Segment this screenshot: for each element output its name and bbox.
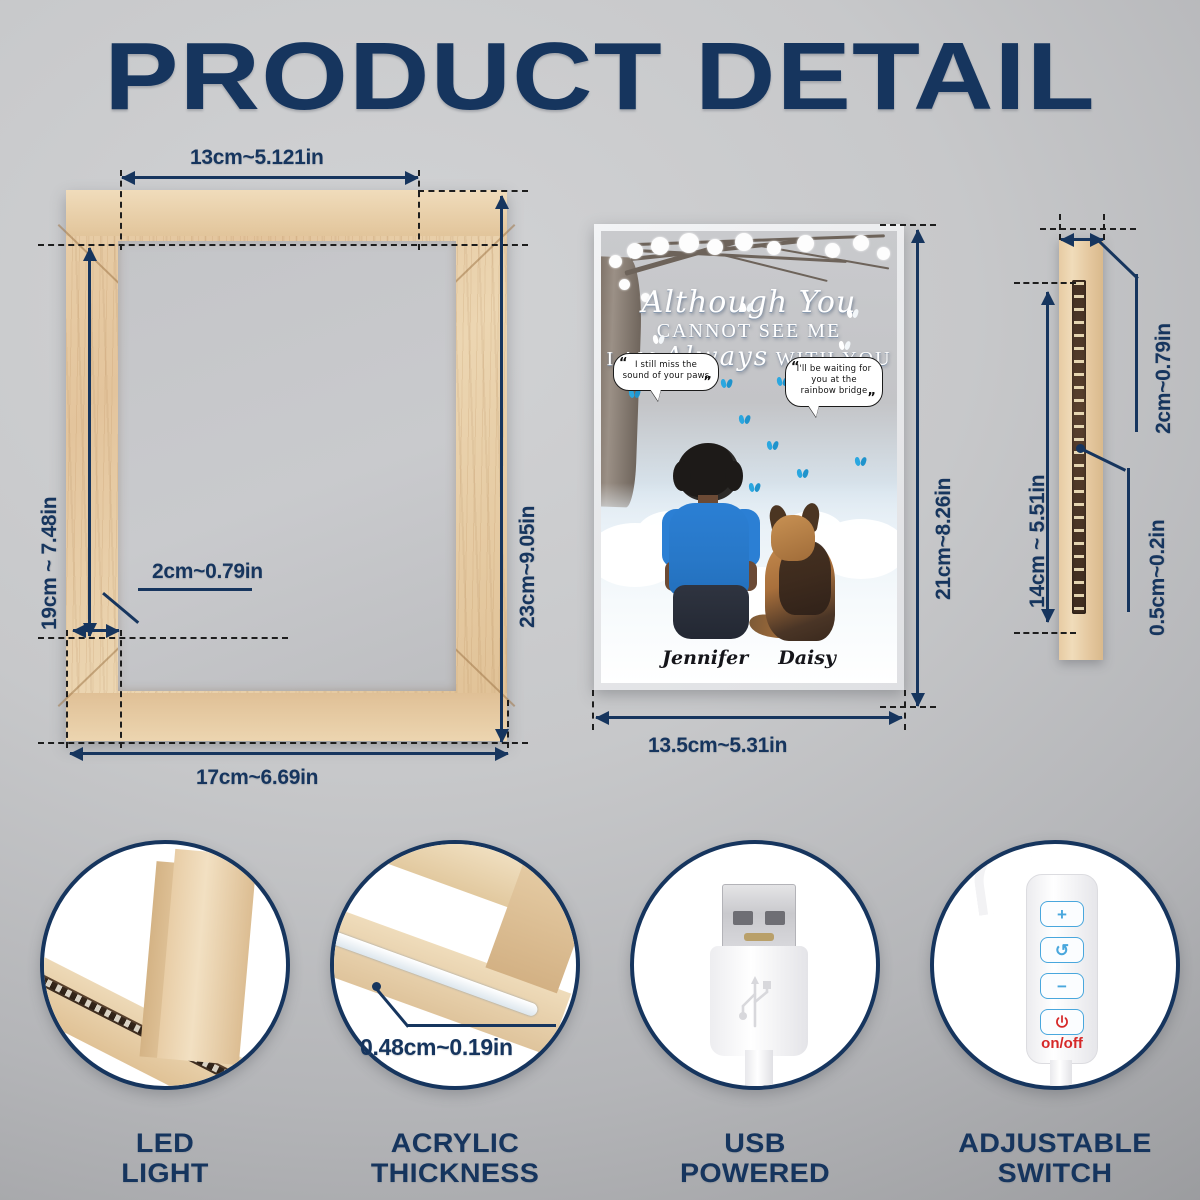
dimension-outer-height: 23cm~9.05in xyxy=(516,506,540,628)
dimension-arrow-border-width xyxy=(73,629,119,632)
feature-circle-usb-powered xyxy=(630,840,880,1090)
guide-line-border-left xyxy=(66,630,68,748)
guide-led-top xyxy=(1014,282,1076,284)
guide-panel-left xyxy=(592,690,594,730)
person-shirt xyxy=(669,503,749,595)
open-quote-mark: “ xyxy=(619,357,628,370)
guide-led-bottom xyxy=(1014,632,1076,634)
butterfly xyxy=(797,469,808,478)
caption-line-2: THICKNESS xyxy=(317,1158,593,1188)
switch-cord-lower xyxy=(1050,1060,1072,1090)
butterfly xyxy=(741,303,752,312)
brightness-down-button[interactable]: − xyxy=(1040,973,1084,999)
speech-bubble-pet: “ I'll be waiting for you at the rainbow… xyxy=(785,357,883,407)
brightness-up-button[interactable]: + xyxy=(1040,901,1084,927)
dimension-acrylic-thickness: 0.48cm~0.19in xyxy=(360,1034,513,1061)
pet-name: Daisy xyxy=(778,647,836,669)
power-icon xyxy=(1054,1014,1070,1030)
dimension-panel-width: 13.5cm~5.31in xyxy=(648,734,787,758)
feature-caption-adjustable-switch: ADJUSTABLE SWITCH xyxy=(917,1128,1193,1188)
close-quote-mark: ” xyxy=(867,392,876,405)
dimension-arrow-outer-height xyxy=(500,196,503,742)
caption-line-1: USB xyxy=(617,1128,893,1158)
power-button[interactable] xyxy=(1040,1009,1084,1035)
usb-connector-metal xyxy=(722,884,796,950)
feature-caption-led-light: LED LIGHT xyxy=(27,1128,303,1188)
speech-bubble-pet-text: I'll be waiting for you at the rainbow b… xyxy=(797,364,872,396)
butterfly xyxy=(839,341,850,350)
dimension-arrow-outer-width xyxy=(70,752,508,755)
usb-contact-slot xyxy=(765,911,785,925)
tree-blossom xyxy=(627,243,643,259)
dog-head xyxy=(771,515,815,561)
frame-opening xyxy=(118,241,456,691)
usb-contact-slot xyxy=(733,911,753,925)
guide-panel-top xyxy=(880,224,936,226)
caption-line-1: ADJUSTABLE xyxy=(917,1128,1193,1158)
tree-blossom xyxy=(679,233,699,253)
caption-line-2: SWITCH xyxy=(917,1158,1193,1188)
tree-blossom xyxy=(707,239,723,255)
tree-blossom xyxy=(825,243,840,258)
frame-post-outer xyxy=(157,849,257,1065)
callout-leader-base-depth xyxy=(1098,240,1139,280)
tree-blossom xyxy=(797,235,814,252)
feature-caption-acrylic-thickness: ACRYLIC THICKNESS xyxy=(317,1128,593,1188)
tree-blossom xyxy=(735,233,753,251)
butterfly xyxy=(767,441,778,450)
guide-panel-right xyxy=(904,690,906,730)
butterfly xyxy=(653,335,664,344)
person-illustration xyxy=(663,443,759,639)
dimension-border-width: 2cm~0.79in xyxy=(152,560,263,584)
caption-line-1: LED xyxy=(27,1128,303,1158)
quote-line-2: CANNOT SEE ME xyxy=(601,321,897,342)
tree-blossom xyxy=(767,241,781,255)
dimension-base-depth: 2cm~0.79in xyxy=(1152,323,1176,434)
power-label: on/off xyxy=(1041,1035,1083,1052)
butterfly xyxy=(847,309,858,318)
dimension-inner-height: 19cm ~ 7.48in xyxy=(38,497,62,630)
guide-panel-bottom xyxy=(880,706,936,708)
dog-illustration xyxy=(749,509,841,641)
butterfly xyxy=(739,415,750,424)
guide-side-top xyxy=(1040,228,1136,230)
infographic-canvas: PRODUCT DETAIL 13cm~5.121in 19cm ~ 7.48i… xyxy=(0,0,1200,1200)
mode-cycle-button[interactable]: ↺ xyxy=(1040,937,1084,963)
callout-leader-horizontal xyxy=(138,588,252,591)
caption-line-2: POWERED xyxy=(617,1158,893,1188)
callout-leader-slot-width-vertical xyxy=(1127,468,1130,612)
tree-blossom xyxy=(609,255,622,268)
dimension-slot-width: 0.5cm~0.2in xyxy=(1146,520,1170,636)
dimension-arrow-panel-height xyxy=(916,230,919,706)
close-quote-mark: ” xyxy=(703,376,712,389)
callout-leader-base-depth-vertical xyxy=(1135,274,1138,432)
tree-blossom xyxy=(853,235,869,251)
switch-housing: + ↺ − on/off xyxy=(1026,874,1098,1064)
guide-line-top xyxy=(38,244,528,246)
callout-leader-acrylic-horizontal xyxy=(408,1024,556,1027)
frame-bottom-bevel xyxy=(66,693,507,741)
guide-line-bottom xyxy=(38,742,528,744)
wooden-frame xyxy=(66,190,507,741)
frame-top-bevel xyxy=(66,190,507,236)
page-title: PRODUCT DETAIL xyxy=(0,22,1200,132)
speech-bubble-person-text: I still miss the sound of your paws xyxy=(623,360,710,381)
feature-circle-adjustable-switch: + ↺ − on/off xyxy=(930,840,1180,1090)
feature-circle-led-light xyxy=(40,840,290,1090)
acrylic-panel: Although You CANNOT SEE ME I AM Always W… xyxy=(594,224,904,690)
person-hair xyxy=(677,443,739,501)
dimension-panel-height: 21cm~8.26in xyxy=(932,478,956,600)
dimension-arrow-base-depth xyxy=(1061,238,1103,241)
dimension-outer-width: 17cm~6.69in xyxy=(196,766,318,790)
dimension-inner-width: 13cm~5.121in xyxy=(190,146,324,170)
feature-caption-usb-powered: USB POWERED xyxy=(617,1128,893,1188)
usb-circle-end xyxy=(739,1012,747,1020)
usb-arrow-head xyxy=(751,976,759,984)
dimension-arrow-inner-width xyxy=(122,176,418,179)
dimension-arrow-inner-height xyxy=(88,248,91,636)
dimension-led-length: 14cm ~ 5.51in xyxy=(1026,475,1050,608)
tree-blossom xyxy=(877,247,890,260)
guide-line-top-right xyxy=(418,190,528,192)
person-name: Jennifer xyxy=(662,647,748,669)
panel-artwork: Although You CANNOT SEE ME I AM Always W… xyxy=(601,231,897,683)
usb-trident-icon xyxy=(735,972,775,1032)
dimension-arrow-panel-width xyxy=(596,716,902,719)
butterfly xyxy=(721,379,732,388)
caption-line-1: ACRYLIC xyxy=(317,1128,593,1158)
butterfly xyxy=(855,457,866,466)
usb-square-end xyxy=(763,981,771,989)
name-row: Jennifer Daisy xyxy=(601,647,897,669)
speech-bubble-person: “ I still miss the sound of your paws ” xyxy=(613,353,719,391)
tree-blossom xyxy=(651,237,669,255)
usb-contact-tab xyxy=(744,933,774,941)
person-pants xyxy=(673,585,749,639)
butterfly xyxy=(749,483,760,492)
usb-cable xyxy=(745,1050,773,1090)
guide-line-border-right xyxy=(120,630,122,748)
caption-line-2: LIGHT xyxy=(27,1158,303,1188)
open-quote-mark: “ xyxy=(791,361,800,374)
